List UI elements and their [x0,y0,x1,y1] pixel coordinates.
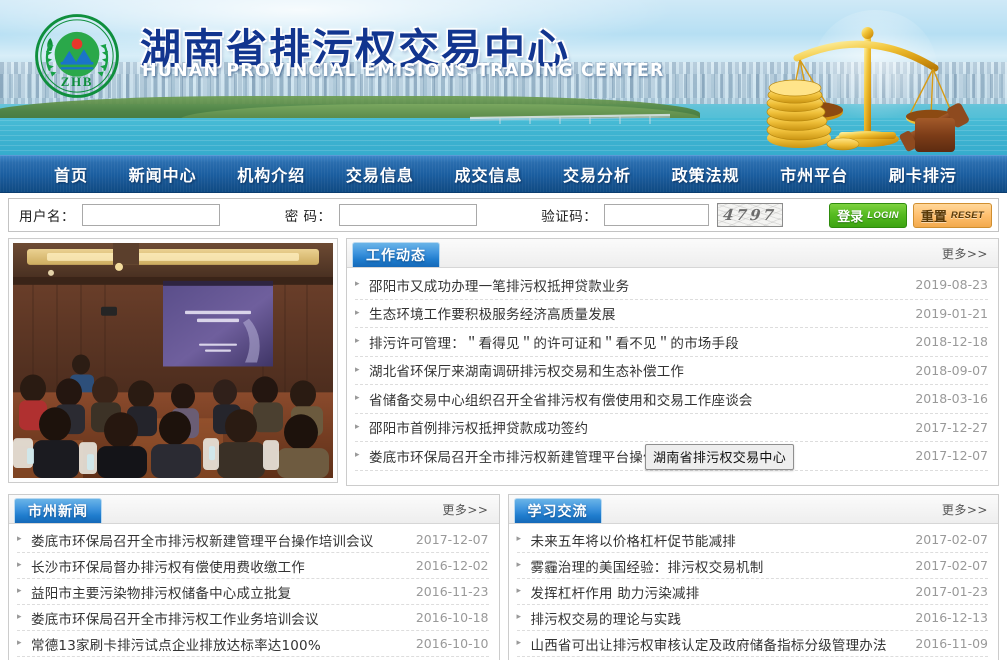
bullet-arrow-icon: ▸ [17,639,27,648]
news-date: 2019-01-21 [915,306,988,321]
login-button-label-cn: 登录 [837,206,863,225]
bullet-arrow-icon: ▸ [17,587,27,596]
list-item[interactable]: ▸ 常德13家刷卡排污试点企业排放达标率达100% 2016-10-10 [17,631,489,657]
news-title: 长沙市环保局督办排污权有偿使用费收缴工作 [31,556,406,576]
list-item[interactable]: ▸ 生态环境工作要积极服务经济高质量发展 2019-01-21 [355,300,988,329]
news-date: 2017-02-07 [915,558,988,573]
bullet-arrow-icon: ▸ [355,309,365,318]
list-item[interactable]: ▸ 娄底市环保局召开全市排污权工作业务培训会议 2016-10-18 [17,605,489,631]
study-exchange-header: 学习交流 更多>> [509,495,999,524]
reset-button-label-cn: 重置 [921,206,947,225]
bullet-arrow-icon: ▸ [517,587,527,596]
zhb-emblem-logo: ZHB [34,13,120,99]
nav-item-home[interactable]: 首页 [48,158,94,190]
news-date: 2016-12-02 [416,558,489,573]
hover-tooltip: 湖南省排污权交易中心 [645,444,794,470]
list-item[interactable]: ▸ 雾霾治理的美国经验：排污权交易机制 2017-02-07 [517,553,989,579]
news-date: 2018-09-07 [915,363,988,378]
nav-item-trade-info[interactable]: 交易信息 [340,158,420,190]
news-date: 2018-12-18 [915,334,988,349]
city-news-list: ▸ 娄底市环保局召开全市排污权新建管理平台操作培训会议 2017-12-07 ▸… [9,524,499,660]
news-title: 发挥杠杆作用 助力污染减排 [531,582,906,602]
nav-item-trade-analysis[interactable]: 交易分析 [557,158,637,190]
work-dynamics-more-link[interactable]: 更多>> [942,245,988,262]
list-item[interactable]: ▸ 未来五年将以价格杠杆促节能减排 2017-02-07 [517,527,989,553]
bullet-arrow-icon: ▸ [355,280,365,289]
bullet-arrow-icon: ▸ [355,366,365,375]
scales-coins-gavel-art [757,6,997,154]
login-bar: 用户名： 密 码： 验证码： 4797 登录 LOGIN 重置 RESET [8,198,999,232]
conference-photo [13,243,333,478]
bullet-arrow-icon: ▸ [517,535,527,544]
news-date: 2016-10-18 [416,610,489,625]
captcha-label: 验证码： [541,205,597,225]
main-content-row: 工作动态 更多>> ▸ 邵阳市又成功办理一笔排污权抵押贷款业务 2019-08-… [8,238,999,486]
news-title: 邵阳市又成功办理一笔排污权抵押贷款业务 [369,275,905,295]
news-title: 雾霾治理的美国经验：排污权交易机制 [531,556,906,576]
news-date: 2016-11-23 [416,584,489,599]
news-date: 2019-08-23 [915,277,988,292]
news-date: 2017-12-07 [915,448,988,463]
city-news-header: 市州新闻 更多>> [9,495,499,524]
news-title: 益阳市主要污染物排污权储备中心成立批复 [31,582,406,602]
news-title: 娄底市环保局召开全市排污权新建管理平台操作培训会议 [369,446,905,466]
study-exchange-list: ▸ 未来五年将以价格杠杆促节能减排 2017-02-07 ▸ 雾霾治理的美国经验… [509,524,999,660]
bullet-arrow-icon: ▸ [355,394,365,403]
list-item[interactable]: ▸ 邵阳市首例排污权抵押贷款成功签约 2017-12-27 [355,414,988,443]
bullet-arrow-icon: ▸ [355,337,365,346]
bottom-content-row: 市州新闻 更多>> ▸ 娄底市环保局召开全市排污权新建管理平台操作培训会议 20… [8,494,999,660]
bridge-icon [470,104,670,124]
news-title: 常德13家刷卡排污试点企业排放达标率达100% [31,634,406,654]
svg-text:ZHB: ZHB [61,75,93,89]
list-item[interactable]: ▸ 发挥杠杆作用 助力污染减排 2017-01-23 [517,579,989,605]
study-exchange-more-link[interactable]: 更多>> [942,501,988,518]
work-dynamics-header: 工作动态 更多>> [347,239,998,268]
reset-button-label-en: RESET [951,210,984,221]
sun-shape [72,39,83,50]
study-exchange-panel: 学习交流 更多>> ▸ 未来五年将以价格杠杆促节能减排 2017-02-07 ▸… [508,494,1000,660]
bullet-arrow-icon: ▸ [517,561,527,570]
city-news-panel: 市州新闻 更多>> ▸ 娄底市环保局召开全市排污权新建管理平台操作培训会议 20… [8,494,500,660]
news-date: 2017-02-07 [915,532,988,547]
news-title: 排污许可管理：＂看得见＂的许可证和＂看不见＂的市场手段 [369,332,905,352]
password-input[interactable] [339,204,477,226]
bullet-arrow-icon: ▸ [355,423,365,432]
news-title: 生态环境工作要积极服务经济高质量发展 [369,303,905,323]
news-date: 2017-12-27 [915,420,988,435]
nav-item-news-center[interactable]: 新闻中心 [123,158,203,190]
bullet-arrow-icon: ▸ [517,639,527,648]
list-item[interactable]: ▸ 邵阳市又成功办理一笔排污权抵押贷款业务 2019-08-23 [355,271,988,300]
nav-item-org-intro[interactable]: 机构介绍 [231,158,311,190]
captcha-input[interactable] [604,204,709,226]
page-root: ZHB 湖南省排污权交易中心 HUNAN PROVINCIAL EMISIONS… [0,0,1007,660]
news-title: 邵阳市首例排污权抵押贷款成功签约 [369,417,905,437]
city-news-more-link[interactable]: 更多>> [442,501,488,518]
news-title: 排污权交易的理论与实践 [531,608,906,628]
bullet-arrow-icon: ▸ [17,561,27,570]
news-date: 2017-12-07 [416,532,489,547]
captcha-noise [718,204,782,226]
main-navigation: 首页 新闻中心 机构介绍 交易信息 成交信息 交易分析 政策法规 市州平台 刷卡… [0,155,1007,193]
list-item[interactable]: ▸ 排污权交易的理论与实践 2016-12-13 [517,605,989,631]
news-date: 2016-12-13 [915,610,988,625]
reset-button[interactable]: 重置 RESET [913,203,992,228]
featured-photo-panel[interactable] [8,238,338,483]
list-item[interactable]: ▸ 娄底市环保局召开全市排污权新建管理平台操作培训会议 2017-12-07 [17,527,489,553]
tab-study-exchange[interactable]: 学习交流 [514,498,602,523]
list-item[interactable]: ▸ 长沙市环保局督办排污权有偿使用费收缴工作 2016-12-02 [17,553,489,579]
list-item[interactable]: ▸ 省储备交易中心组织召开全省排污权有偿使用和交易工作座谈会 2018-03-1… [355,385,988,414]
news-date: 2016-10-10 [416,636,489,651]
list-item[interactable]: ▸ 益阳市主要污染物排污权储备中心成立批复 2016-11-23 [17,579,489,605]
nav-item-deal-info[interactable]: 成交信息 [448,158,528,190]
news-title: 省储备交易中心组织召开全省排污权有偿使用和交易工作座谈会 [369,389,905,409]
bullet-arrow-icon: ▸ [355,451,365,460]
list-item[interactable]: ▸ 湖北省环保厅来湖南调研排污权交易和生态补偿工作 2018-09-07 [355,357,988,386]
nav-item-city-platform[interactable]: 市州平台 [774,158,854,190]
list-item[interactable]: ▸ 排污许可管理：＂看得见＂的许可证和＂看不见＂的市场手段 2018-12-18 [355,328,988,357]
bullet-arrow-icon: ▸ [17,613,27,622]
tab-city-news[interactable]: 市州新闻 [14,498,102,523]
site-banner: ZHB 湖南省排污权交易中心 HUNAN PROVINCIAL EMISIONS… [0,0,1007,155]
news-date: 2016-11-09 [915,636,988,651]
nav-item-card-discharge[interactable]: 刷卡排污 [883,158,963,190]
work-dynamics-list: ▸ 邵阳市又成功办理一笔排污权抵押贷款业务 2019-08-23 ▸ 生态环境工… [347,268,998,474]
bullet-arrow-icon: ▸ [517,613,527,622]
login-button[interactable]: 登录 LOGIN [829,203,907,228]
news-title: 娄底市环保局召开全市排污权工作业务培训会议 [31,608,406,628]
news-title: 娄底市环保局召开全市排污权新建管理平台操作培训会议 [31,530,406,550]
tab-work-dynamics[interactable]: 工作动态 [352,242,440,267]
list-item[interactable]: ▸ 山西省可出让排污权审核认定及政府储备指标分级管理办法 2016-11-09 [517,631,989,657]
password-label: 密 码： [285,205,332,225]
nav-item-policy-regs[interactable]: 政策法规 [666,158,746,190]
news-title: 湖北省环保厅来湖南调研排污权交易和生态补偿工作 [369,360,905,380]
username-input[interactable] [82,204,220,226]
captcha-image[interactable]: 4797 [717,203,783,227]
site-title-en: HUNAN PROVINCIAL EMISIONS TRADING CENTER [142,61,664,81]
conference-photo-graphic [13,243,333,478]
news-title: 未来五年将以价格杠杆促节能减排 [531,530,906,550]
bullet-arrow-icon: ▸ [17,535,27,544]
news-date: 2018-03-16 [915,391,988,406]
news-title: 山西省可出让排污权审核认定及政府储备指标分级管理办法 [531,634,906,654]
login-button-label-en: LOGIN [867,210,899,221]
username-label: 用户名： [19,205,75,225]
news-date: 2017-01-23 [915,584,988,599]
